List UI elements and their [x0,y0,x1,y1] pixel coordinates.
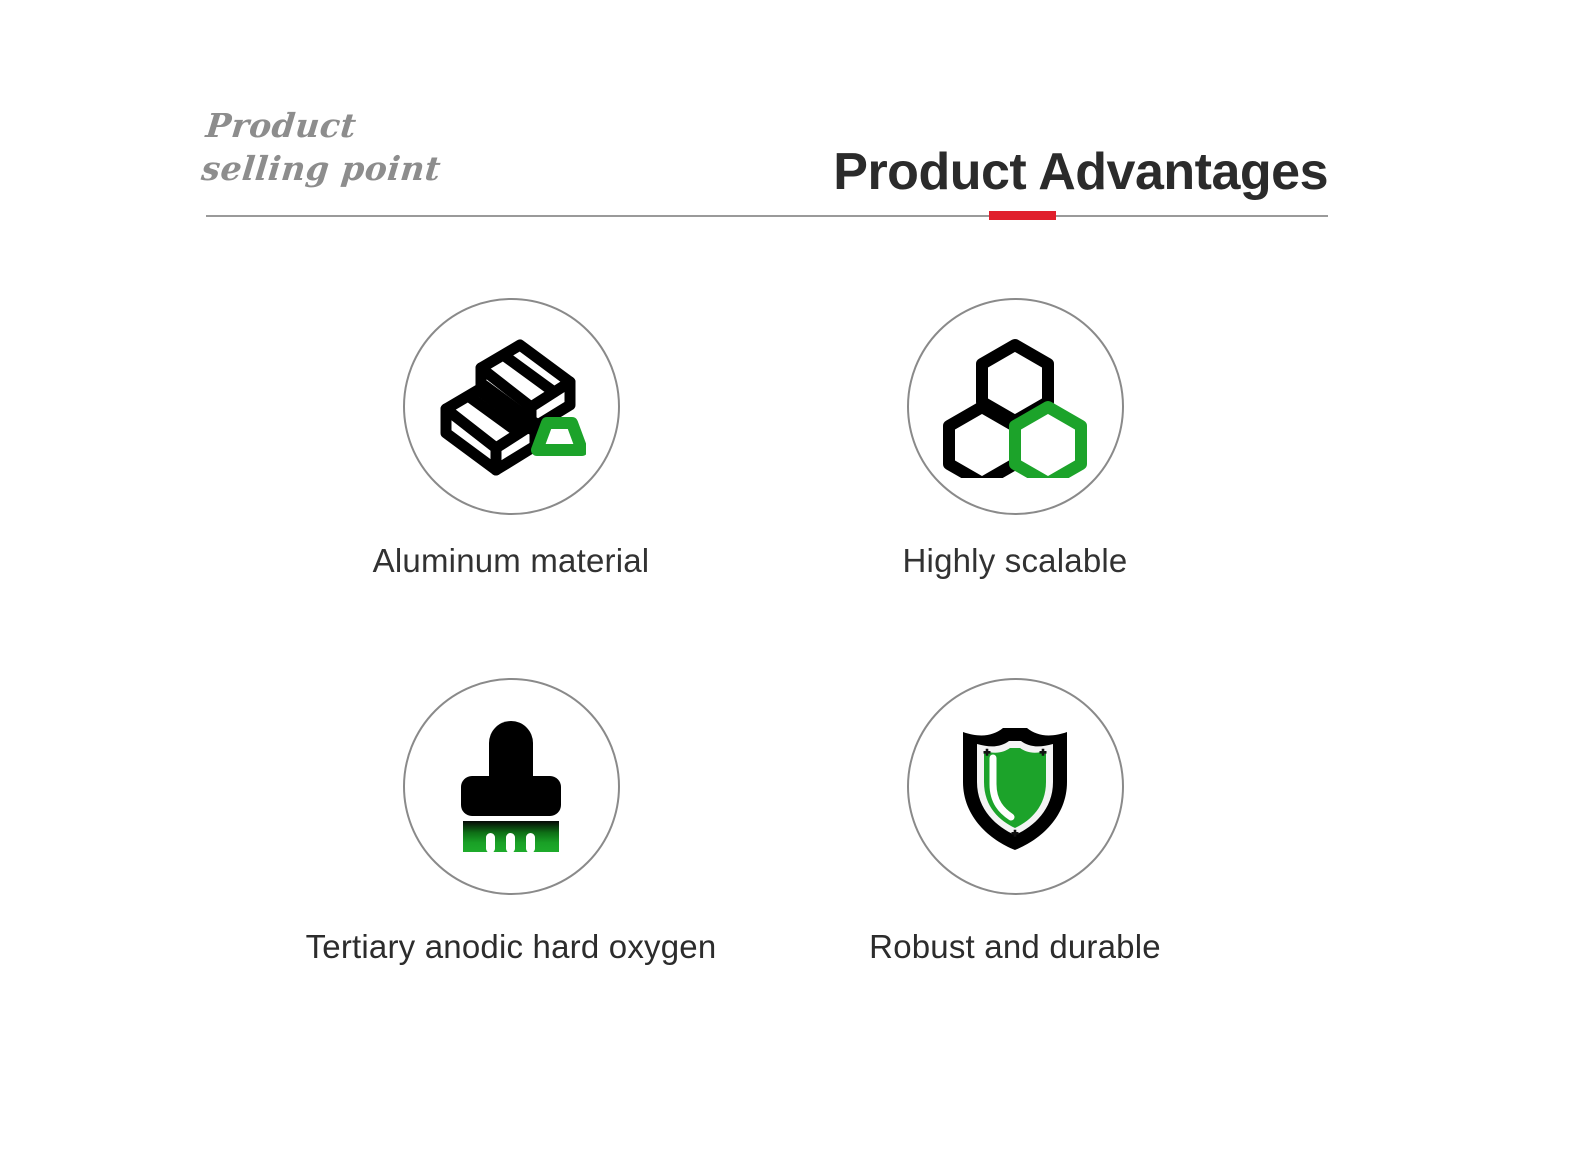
feature-label: Aluminum material [301,541,721,581]
feature-label: Highly scalable [805,541,1225,581]
feature-label: Robust and durable [805,927,1225,967]
header-divider [206,215,1328,217]
icon-circle [907,298,1124,515]
icon-circle [403,298,620,515]
script-subtitle: Product selling point [199,104,628,190]
aluminum-ingots-icon [436,337,586,477]
feature-grid: Aluminum material Highly scalable [0,270,1580,1030]
hexagons-icon [940,336,1090,478]
feature-item-tertiary-anodic-hard-oxygen[interactable]: Tertiary anodic hard oxygen [301,678,721,967]
feature-item-highly-scalable[interactable]: Highly scalable [805,298,1225,581]
shield-icon [955,722,1075,852]
page-title: Product Advantages [833,142,1328,202]
icon-circle [403,678,620,895]
page-header: Product selling point Product Advantages [0,0,1580,240]
icon-circle [907,678,1124,895]
header-accent-bar [989,211,1056,220]
feature-label: Tertiary anodic hard oxygen [301,927,721,967]
feature-item-aluminum-material[interactable]: Aluminum material [301,298,721,581]
feature-item-robust-and-durable[interactable]: Robust and durable [805,678,1225,967]
paint-brush-icon [451,721,571,853]
